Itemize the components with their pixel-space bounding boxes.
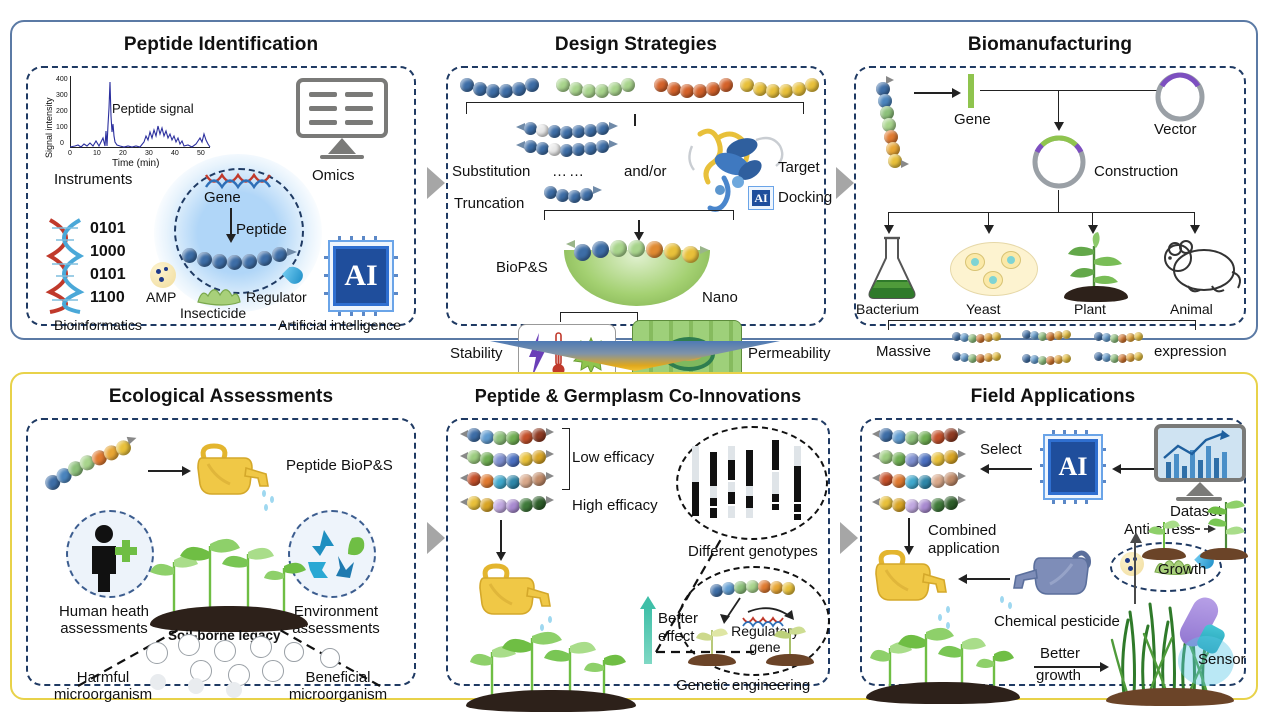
xtick-0: 0 (68, 150, 72, 157)
efficacy-chain-1 (460, 428, 558, 444)
label-truncation: Truncation (454, 196, 524, 213)
label-select: Select (980, 442, 1022, 459)
design-to-nano-bracket (544, 210, 734, 220)
label-growth: Growth (1158, 562, 1206, 579)
label-amp: AMP (146, 290, 176, 306)
microorganism-icon (226, 682, 242, 698)
gene-to-peptide-arrow-head (226, 234, 236, 243)
ytick-100: 100 (56, 124, 68, 131)
seedlings-icon (148, 516, 308, 618)
field-soil-mound (866, 682, 1020, 704)
growth-plant-small (1146, 512, 1182, 552)
ge-plant-small-left (692, 618, 732, 658)
figure-canvas: Peptide Identification Signal intensity … (0, 0, 1268, 714)
panel-ecological-assessments: Ecological Assessments (12, 374, 430, 698)
label-harmful-microorganism: Harmful microorganism (38, 670, 168, 704)
top-row-container: Peptide Identification Signal intensity … (10, 20, 1258, 340)
truncation-chain (544, 186, 634, 204)
hosts-branch-line (888, 212, 1194, 213)
panel-body-biomanufacturing: Gene Vector Constructio (854, 66, 1246, 326)
label-substitution: Substitution (452, 164, 530, 181)
lightning-icon (527, 333, 547, 377)
microorganism-icon (214, 640, 236, 662)
flask-icon (864, 236, 920, 300)
bead (227, 255, 242, 270)
field-ai-chip-icon: AI (1040, 430, 1106, 504)
chain-cap (287, 248, 297, 256)
gene-to-peptide-arrow-line (230, 208, 232, 236)
branch-arrow-bacterium (884, 225, 894, 234)
ytick-400: 400 (56, 76, 68, 83)
panel-body-design-strategies: Substitution …… Truncation and/or (446, 66, 826, 326)
label-peptide-biopands: Peptide BioP&S (286, 458, 393, 475)
source-chain-yellow (740, 78, 830, 98)
growth-arrow-head (1130, 532, 1142, 543)
panel-title-peptide-identification: Peptide Identification (12, 34, 430, 56)
ge-plant-small-right (770, 618, 810, 658)
field-chain-3 (872, 472, 970, 488)
vector-down-arrow-head (1054, 122, 1064, 131)
growth-plant-large (1204, 496, 1248, 552)
branch-arrow-animal (1190, 225, 1200, 234)
panel-body-peptide-identification: Signal intensity 400 300 200 100 0 0 10 … (26, 66, 416, 326)
chain-to-gene-arrow-line (914, 92, 954, 94)
panel-title-design-strategies: Design Strategies (432, 34, 840, 56)
label-plant: Plant (1074, 302, 1106, 318)
label-nano: Nano (702, 290, 738, 307)
chromatogram-chart: Signal intensity 400 300 200 100 0 0 10 … (40, 74, 220, 170)
label-yeast: Yeast (966, 302, 1001, 318)
growth-soil-after (1200, 548, 1248, 560)
panel-co-innovations: Peptide & Germplasm Co-Innovations (432, 374, 844, 698)
bead (242, 254, 257, 269)
bead (197, 252, 212, 267)
label-expression: expression (1154, 344, 1227, 361)
rainbow-peptide-chain (868, 76, 918, 174)
label-omics: Omics (312, 168, 355, 185)
coinnov-soil-mound (466, 690, 636, 712)
monitor-line (309, 92, 337, 97)
xtick-40: 40 (171, 150, 179, 157)
bottom-row-container: Ecological Assessments (10, 372, 1258, 700)
microorganism-icon (178, 634, 200, 656)
ge-soil-right (766, 654, 814, 666)
panel-field-applications: Field Applications (846, 374, 1260, 698)
bead (257, 251, 272, 266)
field-chain-4 (872, 496, 970, 512)
label-permeability: Permeability (748, 346, 831, 363)
amp-vesicle-icon (150, 262, 176, 288)
panel-title-biomanufacturing: Biomanufacturing (840, 34, 1260, 56)
field-chain-1 (872, 428, 970, 444)
panel-title-co-innovations: Peptide & Germplasm Co-Innovations (432, 386, 844, 407)
label-biopands: BioP&S (496, 260, 548, 277)
gene-bar-icon (968, 74, 974, 108)
monitor-line (309, 120, 337, 125)
label-gene-biomanufacturing: Gene (954, 112, 991, 129)
ytick-0: 0 (60, 140, 64, 147)
label-beneficial-microorganism: Beneficial microorganism (270, 670, 406, 704)
binary-row-0: 0101 (90, 220, 126, 238)
field-seedlings-icon (868, 622, 1018, 690)
microorganism-icon (250, 636, 272, 658)
monitor-line (345, 120, 373, 125)
monitor-neck (328, 138, 356, 154)
label-substitution-dots: …… (552, 164, 586, 181)
xtick-20: 20 (119, 150, 127, 157)
label-target: Target (778, 160, 820, 177)
nano-loaded-chain (566, 240, 712, 264)
mini-chain (1094, 352, 1152, 364)
bead (212, 254, 227, 269)
efficacy-chain-3 (460, 472, 558, 488)
dataset-screen (1154, 424, 1246, 482)
field-ai-chip-label: AI (1048, 439, 1098, 495)
mini-chain (1094, 332, 1152, 344)
xtick-30: 30 (145, 150, 153, 157)
yeast-dish-icon (950, 242, 1038, 296)
label-insecticide: Insecticide (180, 306, 246, 322)
panel-body-field-applications: Select (860, 418, 1246, 686)
crop-soil-mound (1106, 688, 1234, 706)
branch-arrow-yeast (984, 225, 994, 234)
field-chain-2 (872, 450, 970, 466)
construction-stem (1058, 190, 1059, 212)
monitor-line (345, 92, 373, 97)
chart-xlabel: Time (min) (112, 158, 159, 169)
efficacy-to-can-arrow-line (500, 520, 502, 554)
watering-can-gold-icon (190, 442, 274, 506)
chart-ylabel: Signal intensity (44, 97, 54, 158)
label-bioinformatics: Bioinformatics (54, 318, 142, 334)
label-stability: Stability (450, 346, 503, 363)
docking-ai-badge-icon: AI (748, 186, 774, 210)
peptide-bead-chain (180, 246, 298, 272)
ai-chip-label: AI (333, 246, 389, 307)
label-better-growth-top: Better (1040, 646, 1080, 663)
massive-expression-bracket (888, 320, 1196, 330)
substitution-chain-row-1 (516, 122, 646, 140)
label-massive: Massive (876, 344, 931, 361)
chart-annotation-peptide-signal: Peptide signal (112, 102, 194, 117)
monitor-line (309, 106, 337, 111)
pesticide-to-can-arrow-head (958, 574, 967, 584)
mini-chain (952, 352, 1010, 364)
mini-chain (1022, 354, 1080, 366)
eco-peptide-chain (39, 433, 145, 498)
protein-target-icon (684, 120, 790, 218)
chain-to-can-arrow-line (148, 470, 184, 472)
watering-can-gold-icon (472, 562, 556, 626)
dataset-to-ai-arrow-head (1112, 464, 1121, 474)
label-construction: Construction (1094, 164, 1178, 181)
ai-to-chains-arrow-head (980, 464, 989, 474)
pesticide-to-can-arrow-line (966, 578, 1010, 580)
label-regulator: Regulator (246, 290, 307, 306)
label-different-genotypes: Different genotypes (688, 544, 818, 561)
microorganism-icon (188, 678, 204, 694)
label-artificial-intelligence: Artificial intelligence (278, 318, 401, 334)
ge-peptide-chain (710, 580, 806, 596)
field-watering-can-gold-icon (868, 550, 952, 612)
watering-can-blue-icon (1012, 546, 1096, 608)
microorganism-icon (284, 642, 304, 662)
chromosome-bands-icon (686, 436, 820, 530)
omics-monitor-icon (296, 78, 388, 162)
label-docking: Docking (778, 190, 832, 207)
label-gene: Gene (204, 190, 241, 207)
mini-chain (1022, 330, 1080, 342)
anti-stress-vesicle-icon (1120, 552, 1144, 576)
label-peptide: Peptide (236, 222, 287, 239)
monitor-line (345, 106, 373, 111)
gene-dna-icon (204, 172, 274, 190)
nano-split-bracket (560, 312, 638, 322)
source-chain-green (556, 78, 646, 98)
vector-down-line (1058, 90, 1059, 126)
label-animal: Animal (1170, 302, 1213, 318)
xtick-50: 50 (197, 150, 205, 157)
source-chains-bracket (466, 102, 804, 114)
xtick-10: 10 (93, 150, 101, 157)
growth-soil-before (1142, 548, 1186, 560)
monitor-screen (296, 78, 388, 138)
binary-row-3: 1100 (90, 289, 125, 307)
microorganism-icon (320, 648, 340, 668)
bead (272, 247, 287, 262)
human-health-icon (66, 510, 154, 598)
plant-icon (1056, 232, 1132, 294)
panel-title-field-applications: Field Applications (846, 386, 1260, 408)
binary-row-1: 1000 (90, 243, 126, 261)
ai-chip-icon: AI (324, 236, 398, 316)
microorganism-icon (146, 642, 168, 664)
ytick-300: 300 (56, 92, 68, 99)
coinnov-seedlings-icon (468, 626, 628, 700)
construction-plasmid-icon (1028, 132, 1090, 192)
panel-peptide-identification: Peptide Identification Signal intensity … (12, 22, 430, 338)
field-chains-down-line (908, 518, 910, 548)
bead (182, 248, 197, 263)
panel-title-ecological-assessments: Ecological Assessments (12, 386, 430, 408)
efficacy-chain-4 (460, 496, 558, 512)
vector-plasmid-icon (1152, 70, 1208, 124)
mini-chain (952, 332, 1010, 344)
label-genetic-engineering: Genetic engineering (676, 678, 810, 695)
label-bacterium: Bacterium (856, 302, 919, 318)
efficacy-to-can-arrow-head (496, 552, 506, 561)
ytick-200: 200 (56, 108, 68, 115)
plant-soil (1064, 286, 1128, 302)
better-growth-arrow-head (1100, 662, 1109, 672)
ai-to-chains-arrow-line (988, 468, 1032, 470)
panel-body-co-innovations: Low efficacy High efficacy (446, 418, 830, 686)
dna-helix-icon (42, 218, 88, 314)
source-chain-blue (460, 78, 550, 98)
source-chain-orange (654, 78, 744, 98)
chain-to-gene-arrow-head (952, 88, 961, 98)
efficacy-chain-2 (460, 450, 558, 466)
substitution-chain-row-2 (516, 140, 646, 158)
binary-row-2: 0101 (90, 266, 126, 284)
label-and-or: and/or (624, 164, 667, 181)
gene-to-vector-line (980, 90, 1158, 91)
panel-biomanufacturing: Biomanufacturing Gene (840, 22, 1260, 338)
mouse-icon (1160, 236, 1244, 298)
monitor-base (320, 155, 364, 159)
label-sensor: Sensor (1198, 652, 1246, 669)
label-better-growth-bottom: growth (1036, 668, 1081, 685)
panel-body-ecological-assessments: Peptide BioP&S Human heath assessments (26, 418, 416, 686)
dataset-monitor-icon (1154, 424, 1246, 504)
label-low-efficacy: Low efficacy (572, 450, 654, 467)
ge-soil-left (688, 654, 736, 666)
low-efficacy-bracket (562, 428, 570, 490)
panel-design-strategies: Design Strategies (432, 22, 840, 338)
label-vector: Vector (1154, 122, 1197, 139)
label-instruments: Instruments (54, 172, 132, 189)
